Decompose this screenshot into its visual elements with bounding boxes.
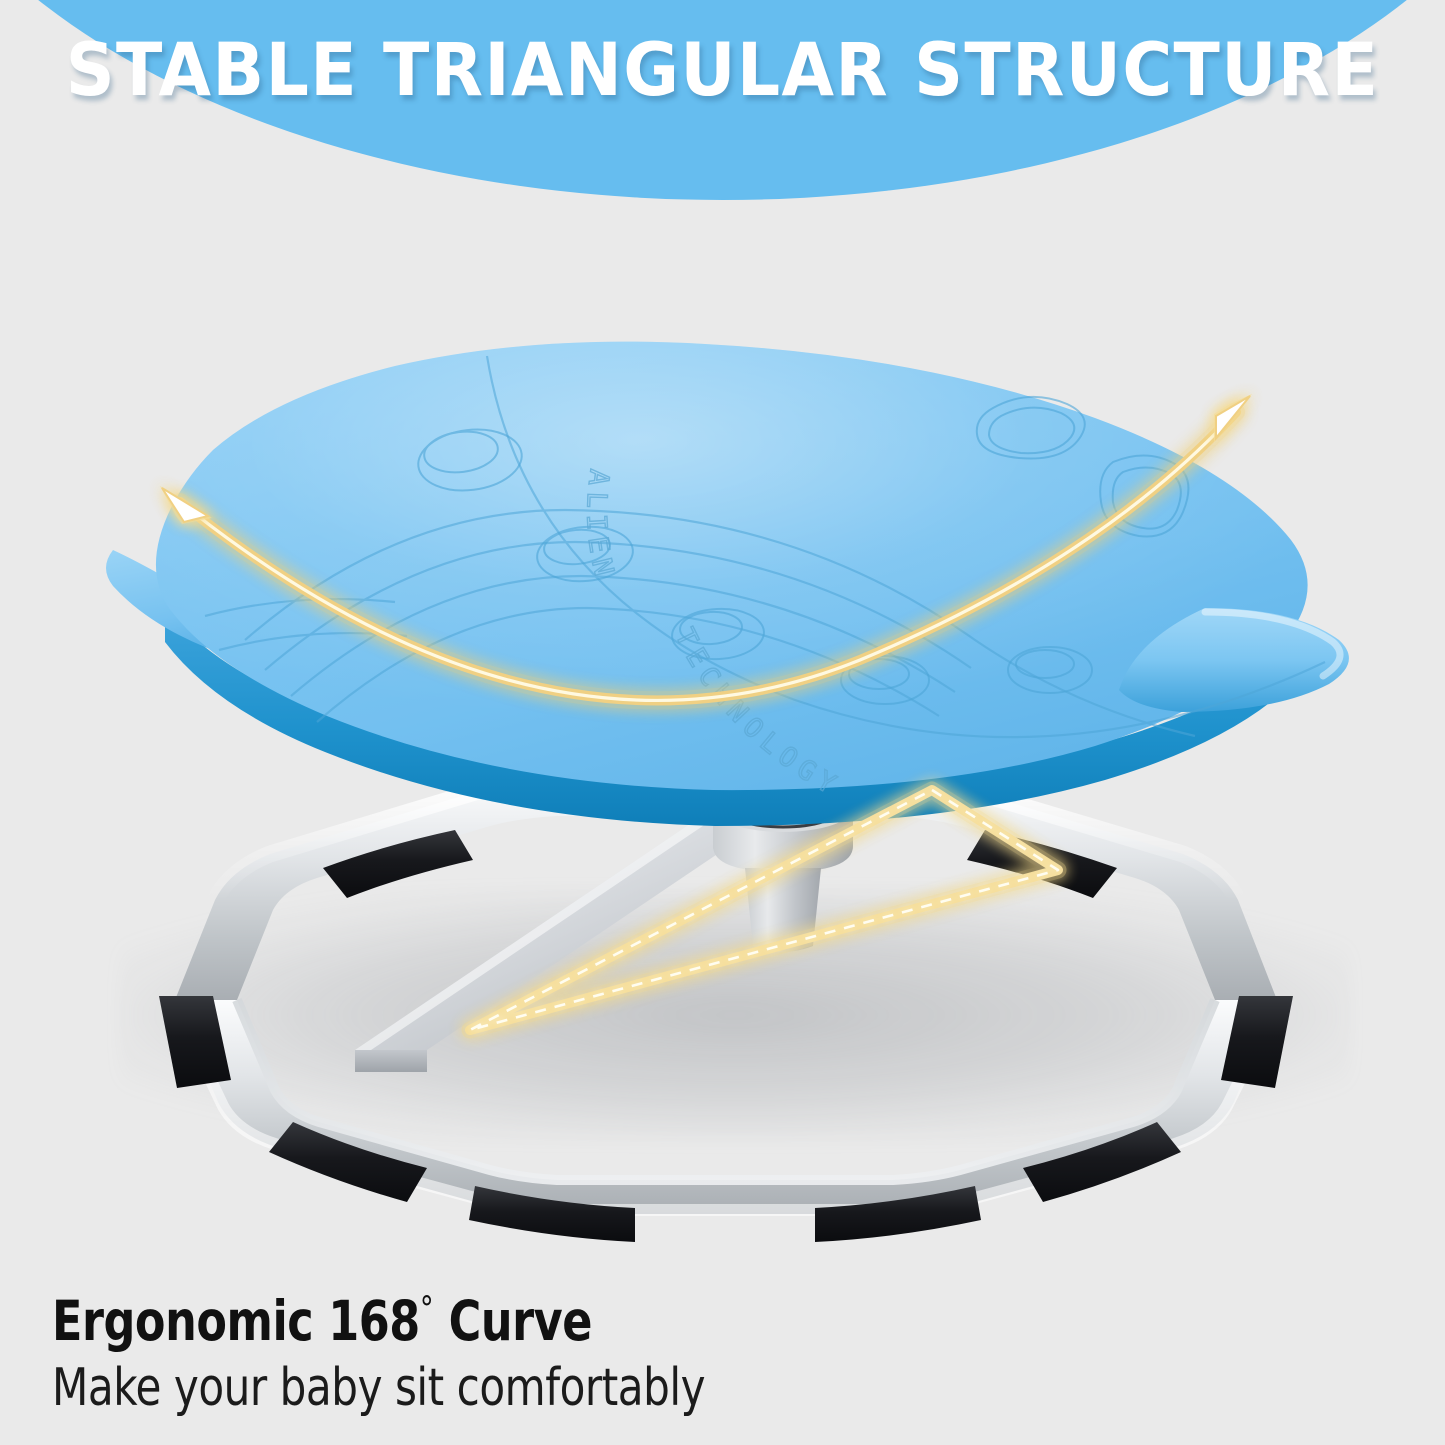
caption-block: Ergonomic 168° Curve Make your baby sit … xyxy=(52,1292,1152,1415)
seat-panel: ALIEN TECHNOLOGY xyxy=(95,340,1365,870)
caption-subline: Make your baby sit comfortably xyxy=(52,1361,1042,1416)
caption-headline-prefix: Ergonomic 168 xyxy=(52,1289,420,1353)
header-banner: STABLE TRIANGULAR STRUCTURE xyxy=(0,0,1445,230)
base-ring-front xyxy=(175,1000,1277,1214)
product-feature-image: STABLE TRIANGULAR STRUCTURE xyxy=(0,0,1445,1445)
product-stage: ALIEN TECHNOLOGY xyxy=(0,230,1445,1285)
page-title: STABLE TRIANGULAR STRUCTURE xyxy=(51,34,1395,107)
banner-blue-shape xyxy=(0,0,1445,200)
caption-headline: Ergonomic 168° Curve xyxy=(52,1292,1042,1351)
degree-symbol: ° xyxy=(420,1289,434,1329)
caption-headline-suffix: Curve xyxy=(449,1289,592,1353)
